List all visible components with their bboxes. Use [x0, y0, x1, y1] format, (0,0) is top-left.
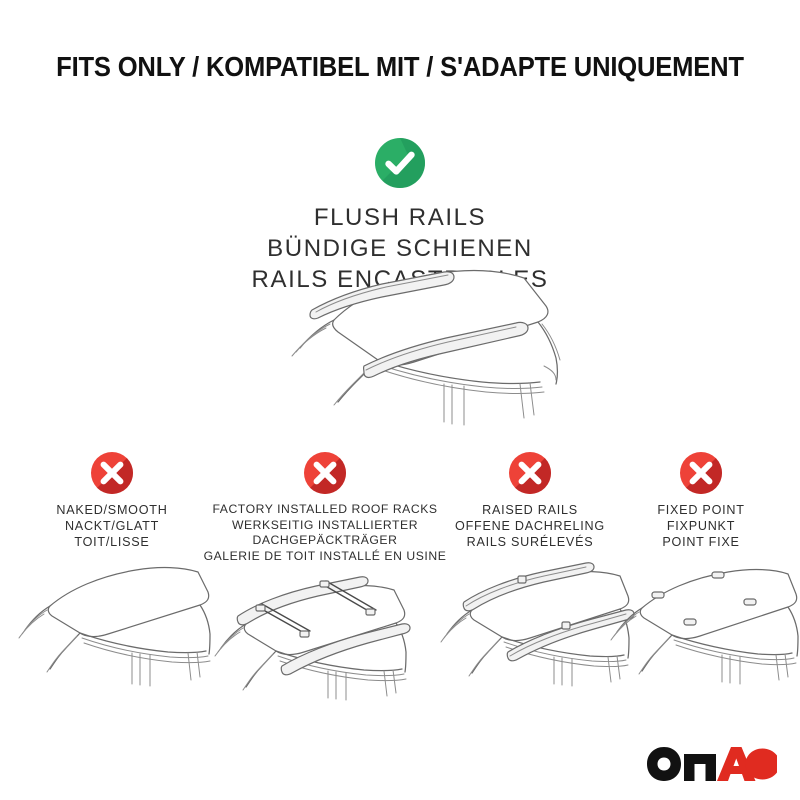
- car-roof-naked-smooth-illustration: [12, 556, 212, 686]
- incompatible-labels: NAKED/SMOOTH NACKT/GLATT TOIT/LISSE: [12, 502, 212, 550]
- incompatible-label-de-1: WERKSEITIG INSTALLIERTER: [202, 518, 448, 534]
- incompatible-label-de-2: DACHGEPÄCKTRÄGER: [202, 533, 448, 549]
- compatible-label-en: FLUSH RAILS: [0, 202, 800, 233]
- header: FITS ONLY / KOMPATIBEL MIT / S'ADAPTE UN…: [0, 52, 800, 82]
- logo-letter-o: [647, 747, 681, 781]
- car-roof-fixed-point-illustration: [608, 556, 794, 686]
- incompatible-label-fr: POINT FIXE: [608, 534, 794, 550]
- car-roof-raised-rails-illustration: [432, 556, 628, 686]
- cross-circle-icon: [91, 452, 133, 494]
- car-roof-factory-racks-illustration: [202, 570, 448, 700]
- incompatible-label-de: FIXPUNKT: [608, 518, 794, 534]
- cross-circle-icon: [304, 452, 346, 494]
- incompatible-item-raised-rails: RAISED RAILS OFFENE DACHRELING RAILS SUR…: [432, 447, 628, 686]
- check-circle-icon: [375, 138, 425, 188]
- incompatible-label-en: RAISED RAILS: [432, 502, 628, 518]
- omac-logo: [646, 746, 778, 782]
- incompatible-label-en: FACTORY INSTALLED ROOF RACKS: [202, 502, 448, 518]
- incompatible-label-de: OFFENE DACHRELING: [432, 518, 628, 534]
- incompatible-label-en: NAKED/SMOOTH: [12, 502, 212, 518]
- compatible-label-de: BÜNDIGE SCHIENEN: [0, 233, 800, 264]
- cross-circle-icon: [509, 452, 551, 494]
- incompatible-label-de: NACKT/GLATT: [12, 518, 212, 534]
- incompatible-item-factory-racks: FACTORY INSTALLED ROOF RACKS WERKSEITIG …: [202, 447, 448, 700]
- incompatible-labels: FACTORY INSTALLED ROOF RACKS WERKSEITIG …: [202, 502, 448, 564]
- incompatible-label-en: FIXED POINT: [608, 502, 794, 518]
- incompatible-item-naked-smooth: NAKED/SMOOTH NACKT/GLATT TOIT/LISSE: [12, 447, 212, 686]
- incompatible-label-fr: RAILS SURÉLEVÉS: [432, 534, 628, 550]
- incompatible-item-fixed-point: FIXED POINT FIXPUNKT POINT FIXE: [608, 447, 794, 686]
- page-title: FITS ONLY / KOMPATIBEL MIT / S'ADAPTE UN…: [28, 52, 772, 82]
- incompatible-label-fr: TOIT/LISSE: [12, 534, 212, 550]
- incompatible-section: NAKED/SMOOTH NACKT/GLATT TOIT/LISSE: [0, 447, 800, 697]
- incompatible-labels: RAISED RAILS OFFENE DACHRELING RAILS SUR…: [432, 502, 628, 550]
- logo-letter-m: [684, 754, 716, 781]
- incompatible-labels: FIXED POINT FIXPUNKT POINT FIXE: [608, 502, 794, 550]
- incompatible-label-fr: GALERIE DE TOIT INSTALLÉ EN USINE: [202, 549, 448, 565]
- cross-circle-icon: [680, 452, 722, 494]
- car-roof-flush-rails-illustration: [238, 262, 578, 432]
